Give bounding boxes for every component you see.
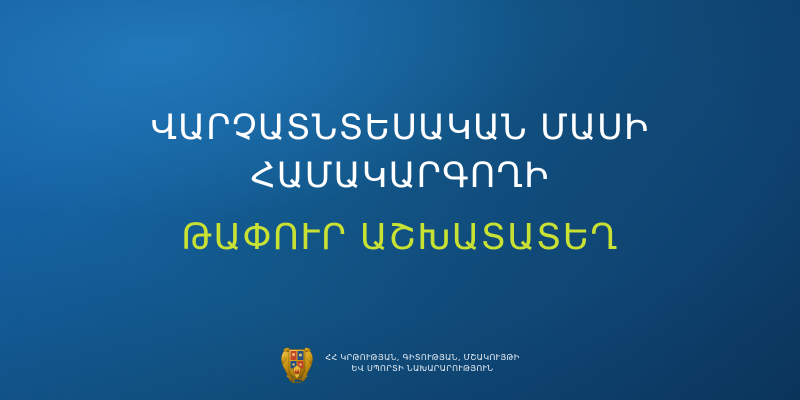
ministry-name-line-2: ԵՎ ՍՊՈՐՏԻ ՆԱԽԱՐԱՐՈՒԹՅՈՒՆ xyxy=(352,363,494,375)
banner-content: ՎԱՐՉԱՏՆՏԵՍԱԿԱՆ ՄԱՍԻ ՀԱՄԱԿԱՐԳՈՂԻ ԹԱՓՈՒՐ Ա… xyxy=(0,0,800,400)
ministry-name: ՀՀ ԿՐԹՈՒԹՅԱՆ, ԳԻՏՈՒԹՅԱՆ, ՄՇԱԿՈՒՅԹԻ ԵՎ ՍՊ… xyxy=(325,352,519,375)
headline-block: ՎԱՐՉԱՏՆՏԵՍԱԿԱՆ ՄԱՍԻ ՀԱՄԱԿԱՐԳՈՂԻ ԹԱՓՈՒՐ Ա… xyxy=(0,104,800,262)
headline-line-3-vacancy: ԹԱՓՈՒՐ ԱՇԽԱՏԱՏԵՂ xyxy=(0,214,800,262)
headline-line-2: ՀԱՄԱԿԱՐԳՈՂԻ xyxy=(0,152,800,200)
armenia-coat-of-arms-icon xyxy=(280,342,314,384)
vacancy-announcement-banner: ՎԱՐՉԱՏՆՏԵՍԱԿԱՆ ՄԱՍԻ ՀԱՄԱԿԱՐԳՈՂԻ ԹԱՓՈՒՐ Ա… xyxy=(0,0,800,400)
headline-line-1: ՎԱՐՉԱՏՆՏԵՍԱԿԱՆ ՄԱՍԻ xyxy=(0,104,800,152)
ministry-footer: ՀՀ ԿՐԹՈՒԹՅԱՆ, ԳԻՏՈՒԹՅԱՆ, ՄՇԱԿՈՒՅԹԻ ԵՎ ՍՊ… xyxy=(280,342,519,384)
ministry-name-line-1: ՀՀ ԿՐԹՈՒԹՅԱՆ, ԳԻՏՈՒԹՅԱՆ, ՄՇԱԿՈՒՅԹԻ xyxy=(325,352,519,364)
